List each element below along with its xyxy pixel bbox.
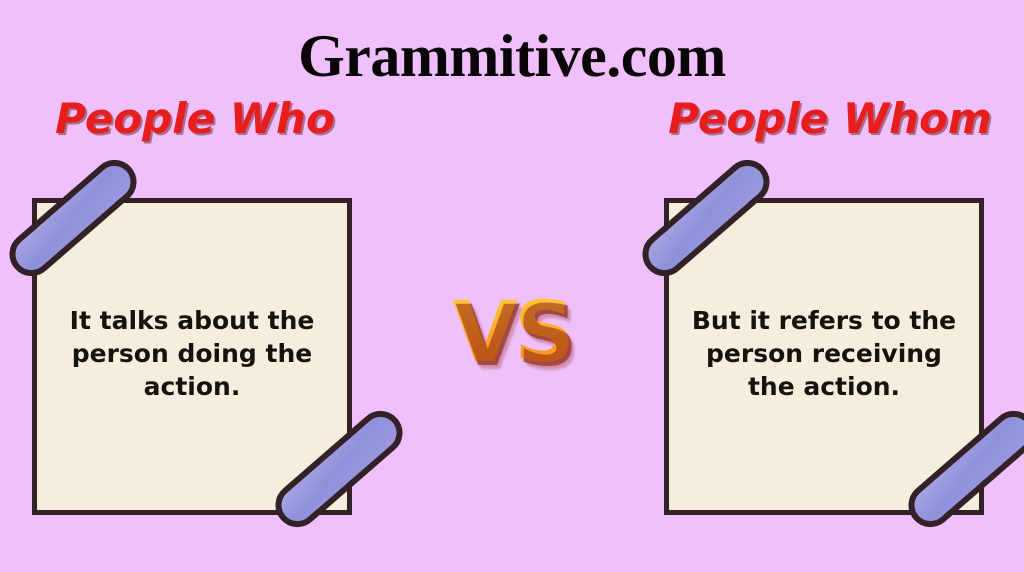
page-title: Grammitive.com: [0, 26, 1024, 86]
versus-badge: VS: [432, 272, 592, 392]
card-people-whom: But it refers to the person receiving th…: [664, 198, 984, 515]
card-people-who-text: It talks about the person doing the acti…: [37, 304, 347, 404]
column-heading-people-who: People Who: [0, 98, 390, 140]
column-heading-people-whom: People Whom: [640, 98, 1020, 140]
comparison-infographic: Grammitive.com People Who People Whom It…: [0, 0, 1024, 572]
card-people-whom-text: But it refers to the person receiving th…: [669, 304, 979, 404]
card-people-who: It talks about the person doing the acti…: [32, 198, 352, 515]
